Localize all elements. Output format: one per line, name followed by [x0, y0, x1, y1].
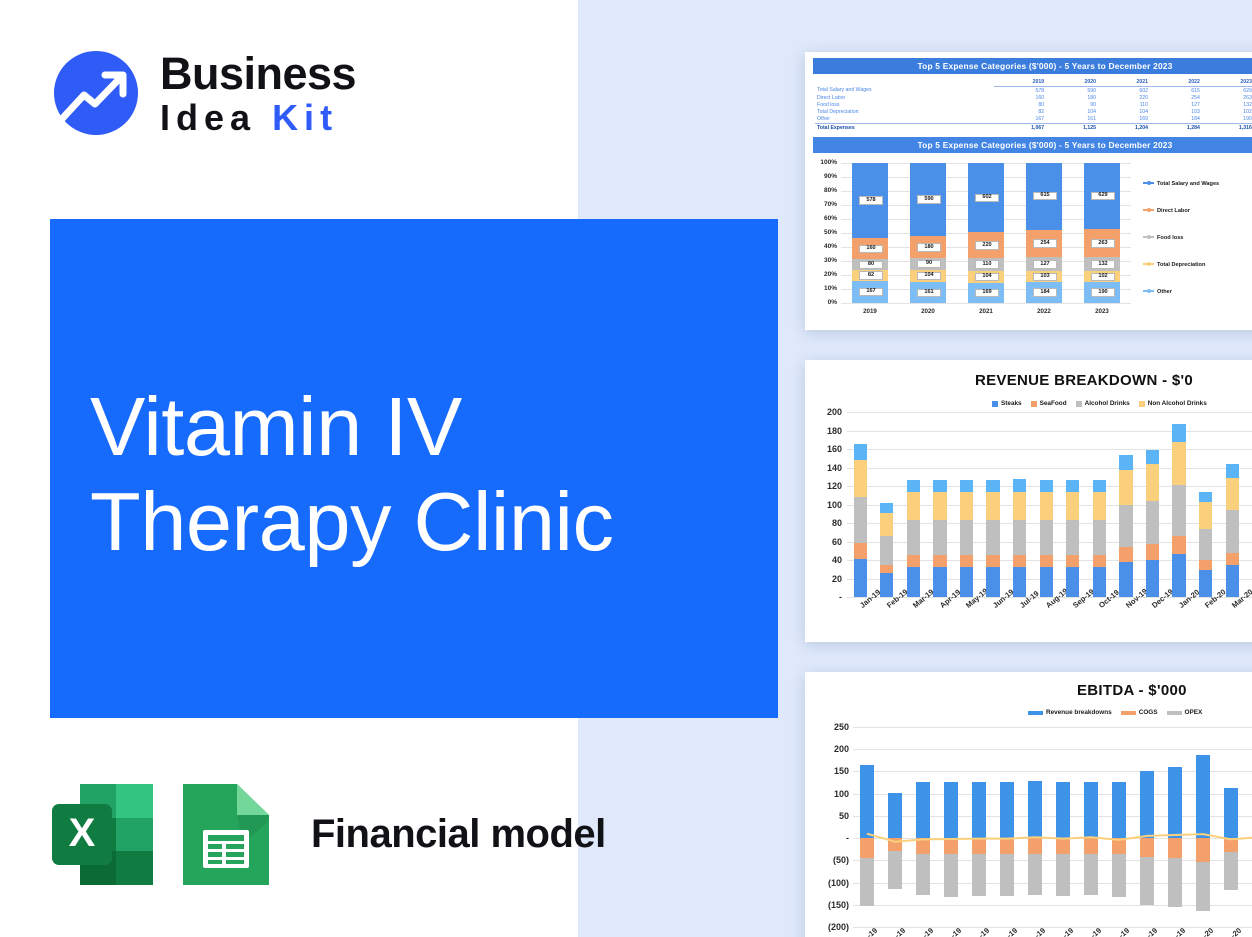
bar-segment: [1013, 492, 1026, 521]
expenses-chart-card: Top 5 Expense Categories ($'000) - 5 Yea…: [805, 52, 1252, 330]
bar-segment: [972, 782, 986, 838]
bar-segment: [1226, 553, 1239, 565]
bar-segment: [1226, 565, 1239, 597]
y-axis-tick: 40: [811, 555, 842, 565]
y-axis-tick: (200): [809, 922, 849, 932]
table-cell: 132: [1202, 101, 1252, 108]
bar-segment: [1066, 567, 1079, 597]
legend-item: Total Salary and Wages: [1143, 181, 1219, 187]
poster-canvas: Business Idea Kit Vitamin IV Therapy Cli…: [0, 0, 1252, 937]
ebitda-chart-card: EBITDA - $'000 (200)(150)(100)(50)-50100…: [805, 672, 1252, 937]
y-axis-tick: (50): [809, 855, 849, 865]
bar-segment: [1140, 771, 1154, 839]
table-cell: 103: [1150, 109, 1202, 116]
expenses-table: 201920202021202220232 Total Salary and W…: [815, 78, 1252, 132]
bar-segment: [1093, 520, 1106, 555]
bar-segment: [1146, 544, 1159, 560]
bar-segment: [1146, 450, 1159, 464]
bar-segment: [854, 460, 867, 497]
table-cell: 82: [994, 109, 1046, 116]
bar-segment: [1224, 852, 1238, 890]
bar-value-label: 132: [1091, 260, 1115, 268]
table-cell: 184: [1150, 116, 1202, 124]
bar-segment: [907, 492, 920, 521]
bar-segment: [1119, 562, 1132, 597]
bar-segment: [1013, 479, 1026, 492]
grid-line: [853, 927, 1252, 928]
y-axis-tick: (100): [809, 878, 849, 888]
y-axis-tick: -: [811, 592, 842, 602]
table-cell: 1,204: [1098, 123, 1150, 131]
grid-line: [847, 431, 1252, 432]
y-axis-tick: 140: [811, 463, 842, 473]
row-label: Total Depreciation: [815, 109, 994, 116]
legend-item: Steaks: [992, 400, 1022, 407]
bar-segment: [1084, 782, 1098, 838]
legend-item: Other: [1143, 289, 1172, 295]
bar-segment: [880, 503, 893, 513]
growth-chart-circle-icon: [50, 47, 142, 139]
y-axis-tick: 90%: [809, 173, 837, 180]
bar-value-label: 169: [975, 289, 999, 297]
x-axis-tick: 2020: [899, 308, 957, 315]
y-axis-tick: 30%: [809, 257, 837, 264]
y-axis-tick: 250: [809, 722, 849, 732]
bar-value-label: 578: [859, 196, 883, 204]
table-cell: 1,067: [994, 123, 1046, 131]
bar-segment: [1168, 838, 1182, 858]
bar-segment: [1196, 862, 1210, 911]
bar-segment: [1056, 854, 1070, 896]
y-axis-tick: 200: [809, 744, 849, 754]
bar-segment: [1066, 492, 1079, 521]
bar-value-label: 167: [859, 288, 883, 296]
bar-segment: [986, 567, 999, 597]
table-cell: 167: [994, 116, 1046, 124]
bar-segment: [933, 520, 946, 555]
bar-segment: [1168, 858, 1182, 907]
y-axis-tick: 80: [811, 518, 842, 528]
table-row: Other167161169184190: [815, 116, 1252, 124]
bar-segment: [1013, 520, 1026, 555]
bar-segment: [933, 555, 946, 567]
table-cell: 161: [1046, 116, 1098, 124]
bar-segment: [1172, 554, 1185, 597]
y-axis-tick: 160: [811, 444, 842, 454]
table-cell: 615: [1150, 87, 1202, 95]
table-total-row: Total Expenses1,0671,1251,2041,2841,316: [815, 123, 1252, 131]
legend-item: Direct Labor: [1143, 208, 1190, 214]
grid-line: [847, 412, 1252, 413]
bar-segment: [1146, 464, 1159, 501]
bar-segment: [854, 543, 867, 559]
bar-value-label: 127: [1033, 260, 1057, 268]
svg-text:X: X: [69, 811, 96, 855]
y-axis-tick: 200: [811, 407, 842, 417]
bar-segment: [854, 497, 867, 543]
table-col-header: 2022: [1150, 78, 1202, 87]
bar-segment: [1199, 570, 1212, 597]
chart-legend: SteaksSeaFoodAlcohol DrinksNon Alcohol D…: [992, 400, 1207, 407]
grid-line: [853, 860, 1252, 861]
bar-segment: [1199, 560, 1212, 570]
bar-segment: [960, 480, 973, 492]
bar-segment: [960, 555, 973, 567]
bar-segment: [933, 480, 946, 492]
table-cell: 104: [1098, 109, 1150, 116]
grid-line: [853, 816, 1252, 817]
y-axis-tick: 60%: [809, 215, 837, 222]
bar-segment: [907, 555, 920, 567]
bar-segment: [880, 536, 893, 565]
bar-segment: [1196, 755, 1210, 838]
legend-item: Alcohol Drinks: [1076, 400, 1130, 407]
row-label: Direct Labor: [815, 94, 994, 101]
bar-segment: [854, 444, 867, 460]
y-axis-tick: 0%: [809, 299, 837, 306]
bar-segment: [1199, 502, 1212, 529]
bar-segment: [1028, 781, 1042, 838]
y-axis-tick: (150): [809, 900, 849, 910]
bar-segment: [1119, 455, 1132, 470]
page-title: Vitamin IV Therapy Clinic: [90, 380, 750, 569]
microsoft-excel-icon: X: [50, 782, 155, 887]
legend-item: Food loss: [1143, 235, 1183, 241]
bar-value-label: 590: [917, 195, 941, 203]
bar-segment: [1040, 567, 1053, 597]
bar-segment: [880, 573, 893, 597]
x-axis-tick: 2021: [957, 308, 1015, 315]
bar-segment: [1146, 560, 1159, 597]
bar-value-label: 103: [1033, 273, 1057, 281]
page-title-line1: Vitamin IV: [90, 380, 750, 475]
bar-segment: [860, 858, 874, 906]
bar-segment: [907, 480, 920, 492]
bar-segment: [916, 838, 930, 854]
bar-segment: [1226, 478, 1239, 510]
grid-line: [853, 838, 1252, 839]
legend-item: Revenue breakdowns: [1028, 709, 1112, 716]
bar-segment: [960, 520, 973, 555]
bar-segment: [1146, 501, 1159, 544]
table-row: Food loss8090110127132: [815, 101, 1252, 108]
table-cell: 602: [1098, 87, 1150, 95]
table-cell: 90: [1046, 101, 1098, 108]
bar-segment: [1028, 854, 1042, 895]
grid-line: [841, 303, 1131, 304]
table-cell: 590: [1046, 87, 1098, 95]
brand-idea-text: Idea: [160, 97, 256, 138]
bar-segment: [1084, 838, 1098, 854]
bar-value-label: 82: [859, 271, 883, 279]
bar-segment: [933, 492, 946, 521]
bar-segment: [888, 851, 902, 889]
grid-line: [853, 883, 1252, 884]
bar-segment: [1093, 492, 1106, 521]
bar-segment: [880, 513, 893, 536]
table-cell: 104: [1046, 109, 1098, 116]
table-cell: 180: [1046, 94, 1098, 101]
y-axis-tick: 70%: [809, 201, 837, 208]
bar-segment: [1199, 529, 1212, 560]
table-col-header: 2020: [1046, 78, 1098, 87]
table-cell: 1,316: [1202, 123, 1252, 131]
legend-item: SeaFood: [1031, 400, 1067, 407]
bar-segment: [1119, 547, 1132, 562]
bar-segment: [888, 838, 902, 851]
y-axis-tick: 100%: [809, 159, 837, 166]
bar-segment: [1196, 838, 1210, 862]
bar-segment: [1093, 480, 1106, 492]
bar-segment: [1066, 520, 1079, 555]
row-label: Other: [815, 116, 994, 124]
bar-segment: [1093, 555, 1106, 567]
bar-segment: [1140, 857, 1154, 905]
legend-item: OPEX: [1167, 709, 1203, 716]
table-cell: 254: [1150, 94, 1202, 101]
table-col-header: 2023: [1202, 78, 1252, 87]
y-axis-tick: 40%: [809, 243, 837, 250]
bar-segment: [986, 480, 999, 492]
bar-value-label: 180: [917, 243, 941, 251]
bar-segment: [916, 854, 930, 895]
legend-item: Total Depreciation: [1143, 262, 1205, 268]
bar-segment: [1056, 782, 1070, 838]
y-axis-tick: 10%: [809, 285, 837, 292]
bar-segment: [960, 492, 973, 521]
bar-segment: [860, 765, 874, 838]
bar-segment: [986, 555, 999, 567]
bar-segment: [1066, 480, 1079, 492]
bar-value-label: 104: [975, 273, 999, 281]
bar-segment: [1093, 567, 1106, 597]
bar-segment: [907, 567, 920, 597]
bar-value-label: 602: [975, 194, 999, 202]
y-axis-tick: 80%: [809, 187, 837, 194]
y-axis-tick: -: [809, 833, 849, 843]
bar-value-label: 615: [1033, 192, 1057, 200]
expenses-stacked-bar-chart: 0%10%20%30%40%50%60%70%80%90%100%1678280…: [805, 153, 1252, 330]
brand-logo[interactable]: Business Idea Kit: [50, 47, 356, 139]
revenue-stacked-bar-chart: -20406080100120140160180200Jan-19Feb-19M…: [805, 360, 1252, 642]
x-axis-tick: 2023: [1073, 308, 1131, 315]
table-cell: 110: [1098, 101, 1150, 108]
bar-segment: [1226, 510, 1239, 553]
bar-segment: [1168, 767, 1182, 838]
bar-value-label: 110: [975, 260, 999, 268]
grid-line: [847, 468, 1252, 469]
table-row: Direct Labor160180220254263: [815, 94, 1252, 101]
table-cell: 1,125: [1046, 123, 1098, 131]
bar-segment: [1224, 838, 1238, 852]
bar-segment: [1226, 464, 1239, 478]
bar-segment: [1013, 567, 1026, 597]
bar-value-label: 160: [859, 245, 883, 253]
bar-value-label: 263: [1091, 239, 1115, 247]
bar-segment: [1084, 854, 1098, 894]
table-header-row: 201920202021202220232: [815, 78, 1252, 87]
y-axis-tick: 100: [809, 789, 849, 799]
table-cell: 1,284: [1150, 123, 1202, 131]
table-col-header: [815, 78, 994, 87]
bar-segment: [916, 782, 930, 838]
bar-segment: [1140, 838, 1154, 857]
google-sheets-icon: [177, 782, 275, 887]
bar-segment: [1112, 782, 1126, 838]
y-axis-tick: 20: [811, 574, 842, 584]
table-cell: 190: [1202, 116, 1252, 124]
bar-segment: [1112, 838, 1126, 854]
bar-segment: [972, 838, 986, 854]
bar-segment: [1040, 480, 1053, 492]
bar-segment: [1224, 788, 1238, 838]
bar-value-label: 102: [1091, 273, 1115, 281]
legend-item: Non Alcohol Drinks: [1139, 400, 1207, 407]
grid-line: [853, 749, 1252, 750]
bar-value-label: 104: [917, 272, 941, 280]
bar-segment: [986, 492, 999, 521]
bar-segment: [1040, 555, 1053, 567]
bar-segment: [1199, 492, 1212, 502]
row-label: Total Expenses: [815, 123, 994, 131]
bar-segment: [1172, 424, 1185, 442]
y-axis-tick: 120: [811, 481, 842, 491]
ebitda-bar-chart: (200)(150)(100)(50)-50100150200250-19-19…: [805, 672, 1252, 937]
bar-segment: [1172, 442, 1185, 485]
bar-segment: [1119, 470, 1132, 505]
x-axis-tick: 2019: [841, 308, 899, 315]
bar-value-label: 90: [917, 260, 941, 268]
bar-segment: [1028, 838, 1042, 854]
brand-kit-text: Kit: [272, 97, 338, 138]
bar-segment: [1040, 520, 1053, 555]
bar-value-label: 629: [1091, 192, 1115, 200]
legend-item: COGS: [1121, 709, 1158, 716]
table-cell: 263: [1202, 94, 1252, 101]
table-cell: 127: [1150, 101, 1202, 108]
table-row: Total Salary and Wages578590602615629: [815, 87, 1252, 95]
format-label: Financial model: [311, 812, 606, 857]
grid-line: [853, 794, 1252, 795]
bar-value-label: 161: [917, 289, 941, 297]
brand-name-line1: Business: [160, 51, 356, 96]
table-col-header: 2019: [994, 78, 1046, 87]
table-cell: 80: [994, 101, 1046, 108]
y-axis-tick: 60: [811, 537, 842, 547]
bar-segment: [1172, 485, 1185, 536]
bar-segment: [888, 793, 902, 838]
bar-segment: [944, 854, 958, 897]
bar-segment: [1066, 555, 1079, 567]
y-axis-tick: 100: [811, 500, 842, 510]
bar-segment: [1112, 854, 1126, 897]
page-title-line2: Therapy Clinic: [90, 475, 750, 570]
expenses-table-title: Top 5 Expense Categories ($'000) - 5 Yea…: [813, 58, 1252, 74]
bar-segment: [1056, 838, 1070, 854]
bar-segment: [944, 838, 958, 854]
revenue-chart-card: REVENUE BREAKDOWN - $'0 -204060801001201…: [805, 360, 1252, 642]
bar-segment: [960, 567, 973, 597]
bar-segment: [1040, 492, 1053, 521]
row-label: Total Salary and Wages: [815, 87, 994, 95]
brand-name-line2: Idea Kit: [160, 100, 356, 136]
y-axis-tick: 50: [809, 811, 849, 821]
table-cell: 160: [994, 94, 1046, 101]
bar-segment: [933, 567, 946, 597]
bar-value-label: 184: [1033, 288, 1057, 296]
bar-segment: [944, 782, 958, 838]
y-axis-tick: 20%: [809, 271, 837, 278]
table-cell: 102: [1202, 109, 1252, 116]
bar-segment: [1172, 536, 1185, 554]
bar-segment: [1013, 555, 1026, 567]
table-cell: 169: [1098, 116, 1150, 124]
table-cell: 220: [1098, 94, 1150, 101]
grid-line: [853, 727, 1252, 728]
x-axis-tick: 2022: [1015, 308, 1073, 315]
bar-segment: [860, 838, 874, 858]
grid-line: [847, 449, 1252, 450]
bar-value-label: 190: [1091, 288, 1115, 296]
format-row: X Financial model: [50, 782, 606, 887]
row-label: Food loss: [815, 101, 994, 108]
grid-line: [853, 771, 1252, 772]
table-col-header: 2021: [1098, 78, 1150, 87]
expenses-chart-title: Top 5 Expense Categories ($'000) - 5 Yea…: [813, 137, 1252, 153]
bar-segment: [986, 520, 999, 555]
bar-value-label: 80: [859, 261, 883, 269]
bar-segment: [1000, 854, 1014, 896]
bar-segment: [1119, 505, 1132, 547]
bar-value-label: 254: [1033, 239, 1057, 247]
bar-segment: [854, 559, 867, 597]
bar-segment: [972, 854, 986, 896]
chart-legend: Revenue breakdownsCOGSOPEX: [1028, 709, 1202, 716]
table-row: Total Depreciation82104104103102: [815, 109, 1252, 116]
bar-segment: [1000, 782, 1014, 838]
bar-segment: [1000, 838, 1014, 854]
y-axis-tick: 180: [811, 426, 842, 436]
bar-segment: [907, 520, 920, 555]
table-cell: 578: [994, 87, 1046, 95]
grid-line: [853, 905, 1252, 906]
bar-value-label: 220: [975, 241, 999, 249]
table-cell: 629: [1202, 87, 1252, 95]
y-axis-tick: 150: [809, 766, 849, 776]
bar-segment: [880, 565, 893, 573]
y-axis-tick: 50%: [809, 229, 837, 236]
